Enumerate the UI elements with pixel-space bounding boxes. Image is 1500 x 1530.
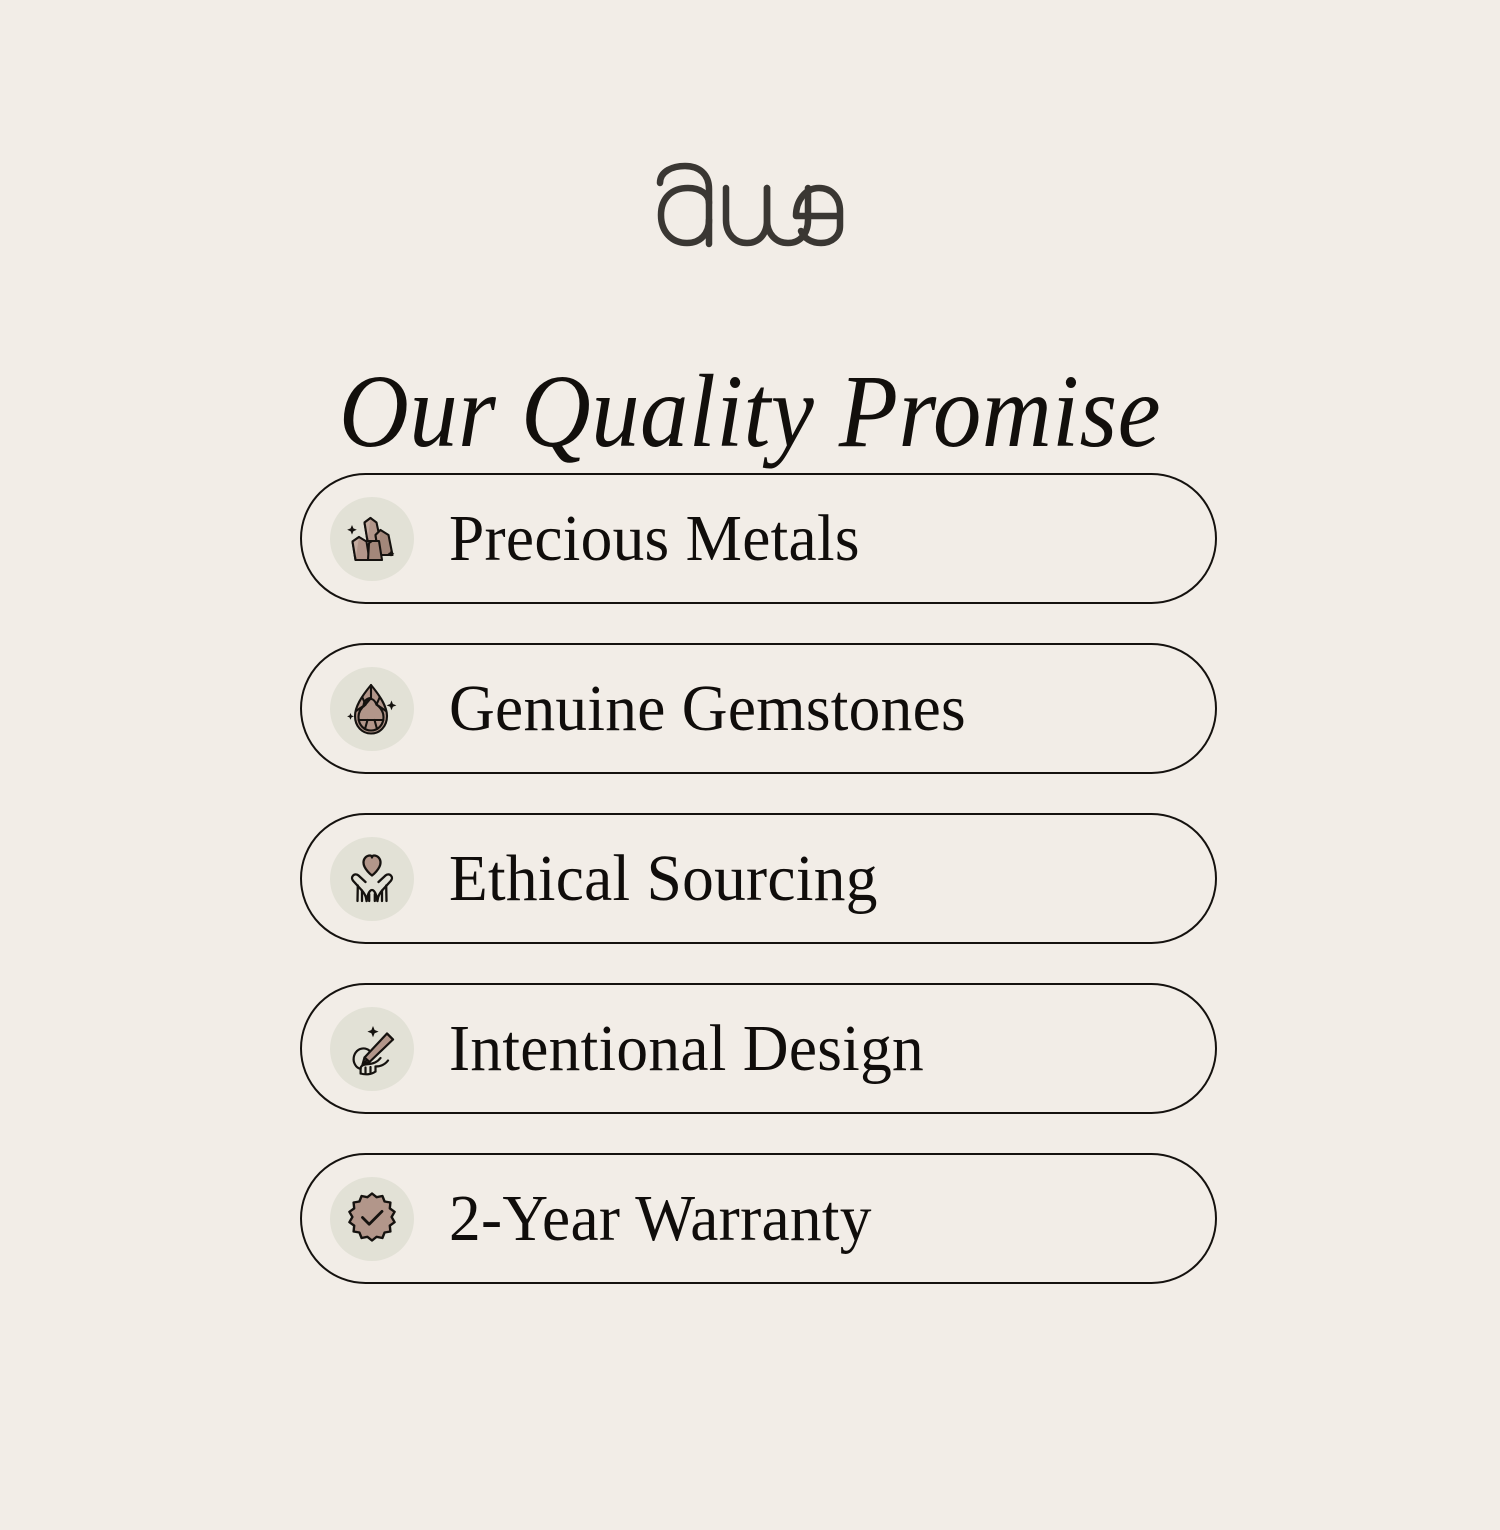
promise-label: Ethical Sourcing xyxy=(449,846,878,912)
gold-bars-icon xyxy=(330,497,414,581)
quality-promise-card: Our Quality Promise xyxy=(0,0,1500,1530)
promise-label: Intentional Design xyxy=(449,1016,924,1082)
pear-gemstone-icon xyxy=(330,667,414,751)
promise-list: Precious Metals xyxy=(300,473,1217,1284)
promise-label: Precious Metals xyxy=(449,506,860,572)
hands-holding-heart-icon xyxy=(330,837,414,921)
promise-item-genuine-gemstones[interactable]: Genuine Gemstones xyxy=(300,643,1217,774)
promise-label: 2-Year Warranty xyxy=(449,1186,872,1252)
promise-item-intentional-design[interactable]: Intentional Design xyxy=(300,983,1217,1114)
promise-label: Genuine Gemstones xyxy=(449,676,966,742)
hand-with-pen-icon xyxy=(330,1007,414,1091)
promise-item-ethical-sourcing[interactable]: Ethical Sourcing xyxy=(300,813,1217,944)
promise-item-warranty[interactable]: 2-Year Warranty xyxy=(300,1153,1217,1284)
promise-item-precious-metals[interactable]: Precious Metals xyxy=(300,473,1217,604)
page-title: Our Quality Promise xyxy=(53,352,1448,471)
badge-check-seal-icon xyxy=(330,1177,414,1261)
awe-wordmark-icon xyxy=(655,162,845,248)
brand-logo xyxy=(0,162,1500,253)
